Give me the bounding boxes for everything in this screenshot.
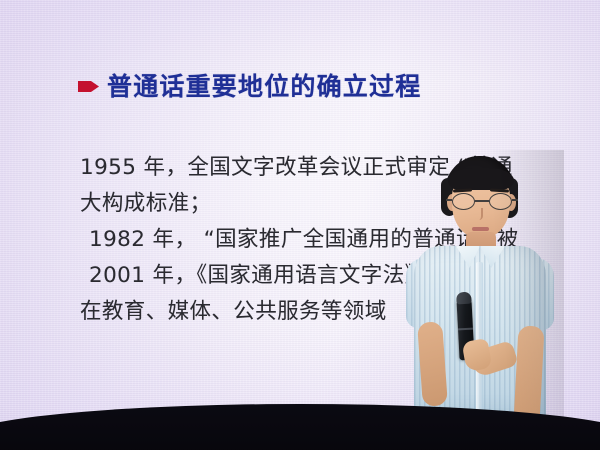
presenter-figure (396, 150, 564, 450)
slide-heading-text: 普通话重要地位的确立过程 (107, 74, 421, 99)
presenter-mouth (472, 227, 489, 231)
glasses-temple-left (446, 199, 452, 201)
presentation-scene: 普通话重要地位的确立过程 1955 年，全国文字改革会议正式审定 “普通 大构成… (0, 0, 600, 450)
microphone-band (458, 328, 473, 331)
glasses-lens-left (452, 193, 475, 210)
presenter-arm-right (513, 325, 544, 424)
glasses-lens-right (489, 193, 512, 210)
presenter-nose (478, 208, 483, 220)
presenter-fringe (448, 168, 514, 190)
screen-bottom-bezel (0, 404, 600, 450)
red-arrow-bullet-icon (78, 79, 100, 94)
glasses-bridge (475, 200, 489, 202)
microphone-head (456, 292, 472, 305)
slide-heading: 普通话重要地位的确立过程 (78, 74, 421, 99)
glasses-temple-right (512, 199, 518, 201)
